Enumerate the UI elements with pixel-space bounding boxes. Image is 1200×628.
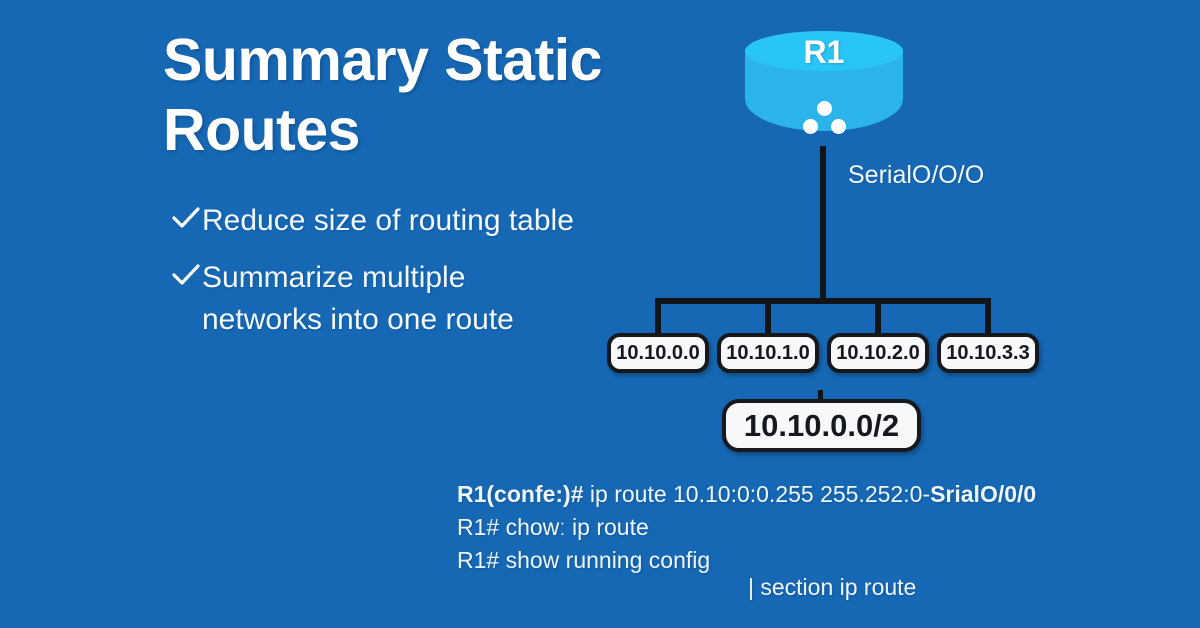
cli-line-3: R1# show running config <box>457 544 1157 577</box>
cli-interface: SrialO/0/0 <box>930 481 1036 507</box>
cli-command-block: R1(confe:)# ip route 10.10:0:0.255 255.2… <box>457 478 1157 577</box>
cli-command-body: ip route 10.10:0:0.255 255.252:0- <box>584 481 931 507</box>
bullet-text: Summarize multiple networks into one rou… <box>202 257 514 342</box>
bullet-text: Reduce size of routing table <box>202 200 574 243</box>
cli-line-2: R1# chowː ip route <box>457 511 1157 544</box>
branch-line-1 <box>655 298 661 336</box>
summary-route-box: 10.10.0.0/2 <box>722 399 921 452</box>
router-label: R1 <box>745 34 903 71</box>
interface-label: SerialO/O/O <box>848 161 984 190</box>
branch-line-2 <box>765 298 771 336</box>
cli-line-1: R1(confe:)# ip route 10.10:0:0.255 255.2… <box>457 478 1157 511</box>
page-title: Summary Static Routes <box>163 26 723 165</box>
check-icon <box>172 207 202 229</box>
check-icon <box>172 264 202 286</box>
branch-line-4 <box>985 298 991 336</box>
bullet-list: Reduce size of routing table Summarize m… <box>172 200 652 356</box>
branch-line-3 <box>875 298 881 336</box>
router-dot-icon <box>817 101 832 116</box>
router-node-r1: R1 <box>745 31 903 149</box>
slide-canvas: Summary Static Routes Reduce size of rou… <box>0 0 1200 628</box>
network-node-box: 10.10.3.3 <box>937 333 1039 373</box>
router-trunk-line <box>820 146 826 301</box>
network-node-box: 10.10.2.0 <box>827 333 929 373</box>
network-node-box: 10.10.1.0 <box>717 333 819 373</box>
network-bus-line <box>655 298 991 304</box>
cli-prompt: R1(confe:)# <box>457 481 584 507</box>
network-node-box: 10.10.0.0 <box>607 333 709 373</box>
router-dot-icon <box>803 119 818 134</box>
list-item: Reduce size of routing table <box>172 200 652 243</box>
list-item: Summarize multiple networks into one rou… <box>172 257 652 342</box>
router-dot-icon <box>831 119 846 134</box>
cli-line-4: | section ip route <box>748 574 916 601</box>
